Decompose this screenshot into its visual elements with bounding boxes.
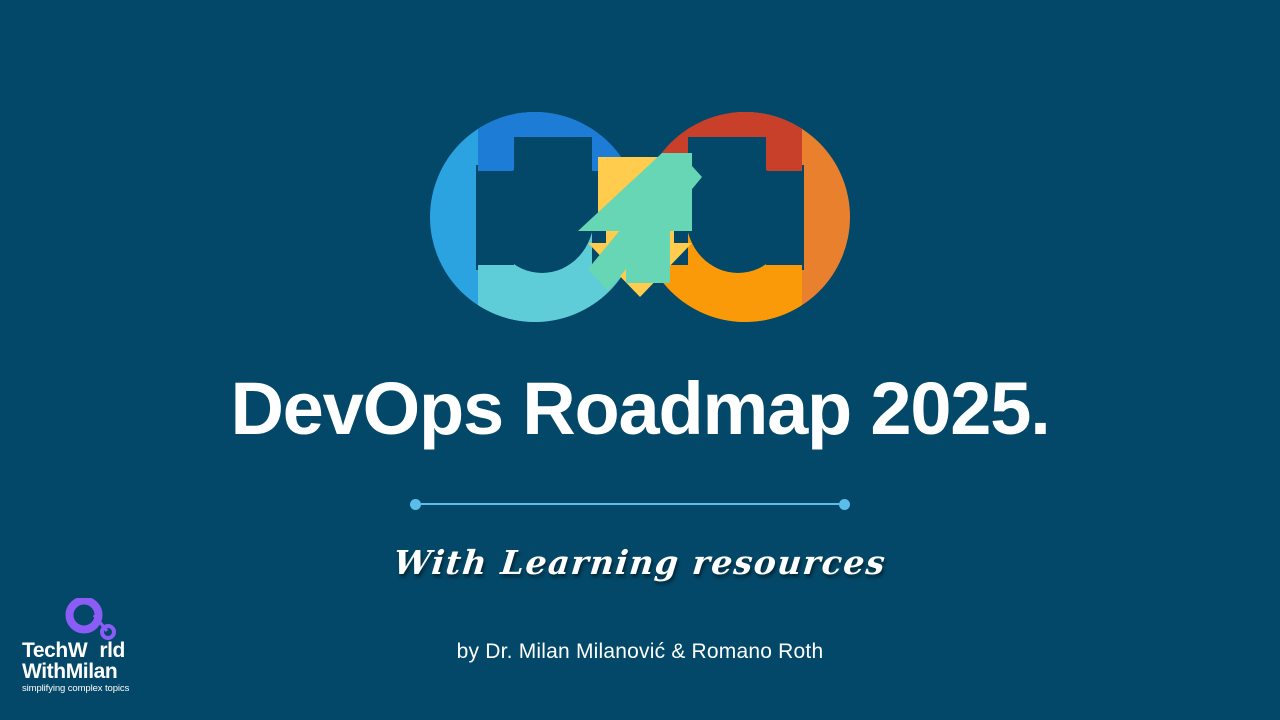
brand-tagline: simplifying complex topics (22, 683, 152, 695)
brand-logo: TechWorld WithMilan simplifying complex … (22, 598, 152, 690)
page-title: DevOps Roadmap 2025. (0, 372, 1280, 446)
brand-line-1-o: o (87, 639, 99, 662)
brand-line-1-b: rld (99, 639, 125, 662)
divider-dot-left (410, 499, 421, 510)
byline-authors: by Dr. Milan Milanović & Romano Roth (0, 640, 1280, 664)
brand-line-1-a: TechW (22, 639, 87, 662)
divider-dot-right (839, 499, 850, 510)
logo-right-inner-hole (686, 161, 790, 273)
brand-line-1: TechWorld (22, 640, 152, 661)
brand-line-2: WithMilan (22, 661, 152, 682)
devops-infinity-logo (430, 95, 850, 340)
subtitle: With Learning resources (0, 543, 1280, 582)
logo-left-inner-hole (490, 161, 594, 273)
divider (410, 498, 850, 510)
slide-canvas: DevOps Roadmap 2025. With Learning resou… (0, 0, 1280, 720)
divider-rule (421, 503, 839, 505)
brand-wordmark: TechWorld WithMilan simplifying complex … (22, 640, 152, 695)
